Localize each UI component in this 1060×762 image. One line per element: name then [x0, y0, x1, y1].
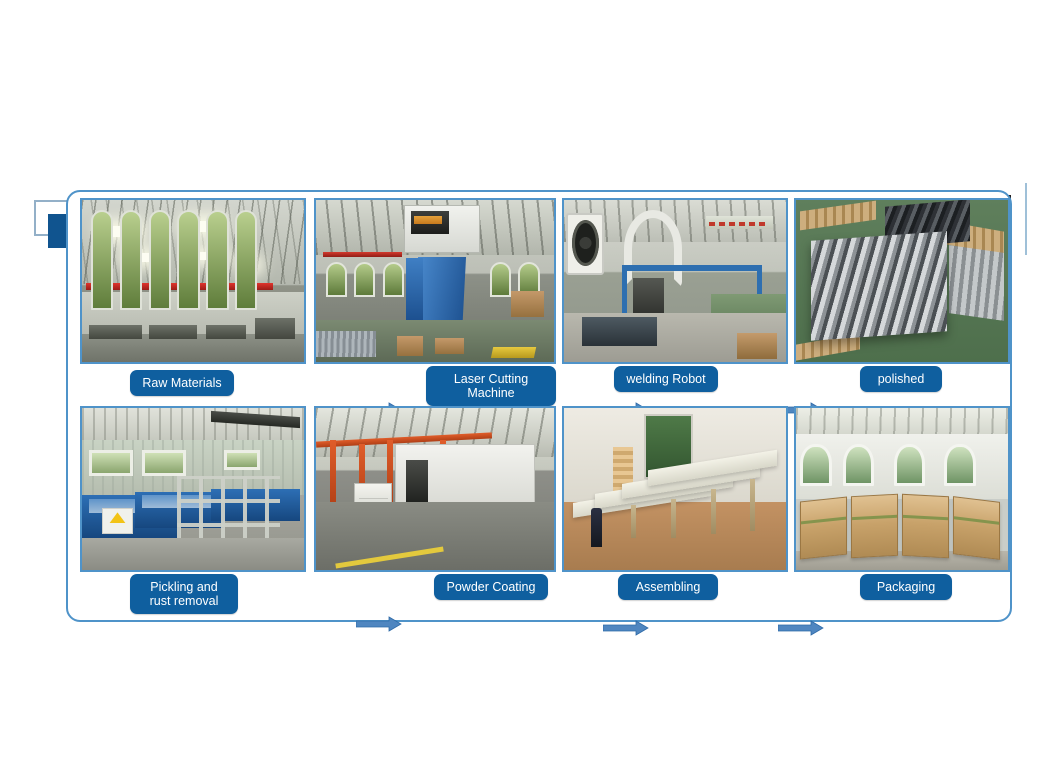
arrow-right-icon: [603, 620, 649, 636]
step-photo: [314, 198, 556, 364]
step-photo: [794, 406, 1010, 572]
step-photo: [794, 198, 1010, 364]
step-photo: [562, 198, 788, 364]
arrow-right-icon: [778, 620, 824, 636]
step-label-polished[interactable]: polished: [860, 366, 942, 392]
step-label-powder-coating[interactable]: Powder Coating: [434, 574, 548, 600]
arrow-right-icon: [356, 616, 402, 632]
header-divider: [1025, 183, 1027, 255]
workflow-container: Raw Materials: [66, 190, 1012, 622]
step-label-pickling[interactable]: Pickling and rust removal: [130, 574, 238, 614]
slide-canvas: Production Workflow Chart: [0, 0, 1060, 762]
step-label-assembling[interactable]: Assembling: [618, 574, 718, 600]
step-label-welding-robot[interactable]: welding Robot: [614, 366, 718, 392]
step-photo: [562, 406, 788, 572]
workflow-row-1: Raw Materials: [68, 198, 1014, 406]
step-photo: [314, 406, 556, 572]
workflow-row-2: Pickling and rust removal: [68, 406, 1014, 614]
step-label-raw-materials[interactable]: Raw Materials: [130, 370, 234, 396]
step-photo: [80, 406, 306, 572]
step-label-packaging[interactable]: Packaging: [860, 574, 952, 600]
step-label-laser-cutting[interactable]: Laser Cutting Machine: [426, 366, 556, 406]
step-photo: [80, 198, 306, 364]
slide-header: Production Workflow Chart: [0, 88, 1060, 180]
